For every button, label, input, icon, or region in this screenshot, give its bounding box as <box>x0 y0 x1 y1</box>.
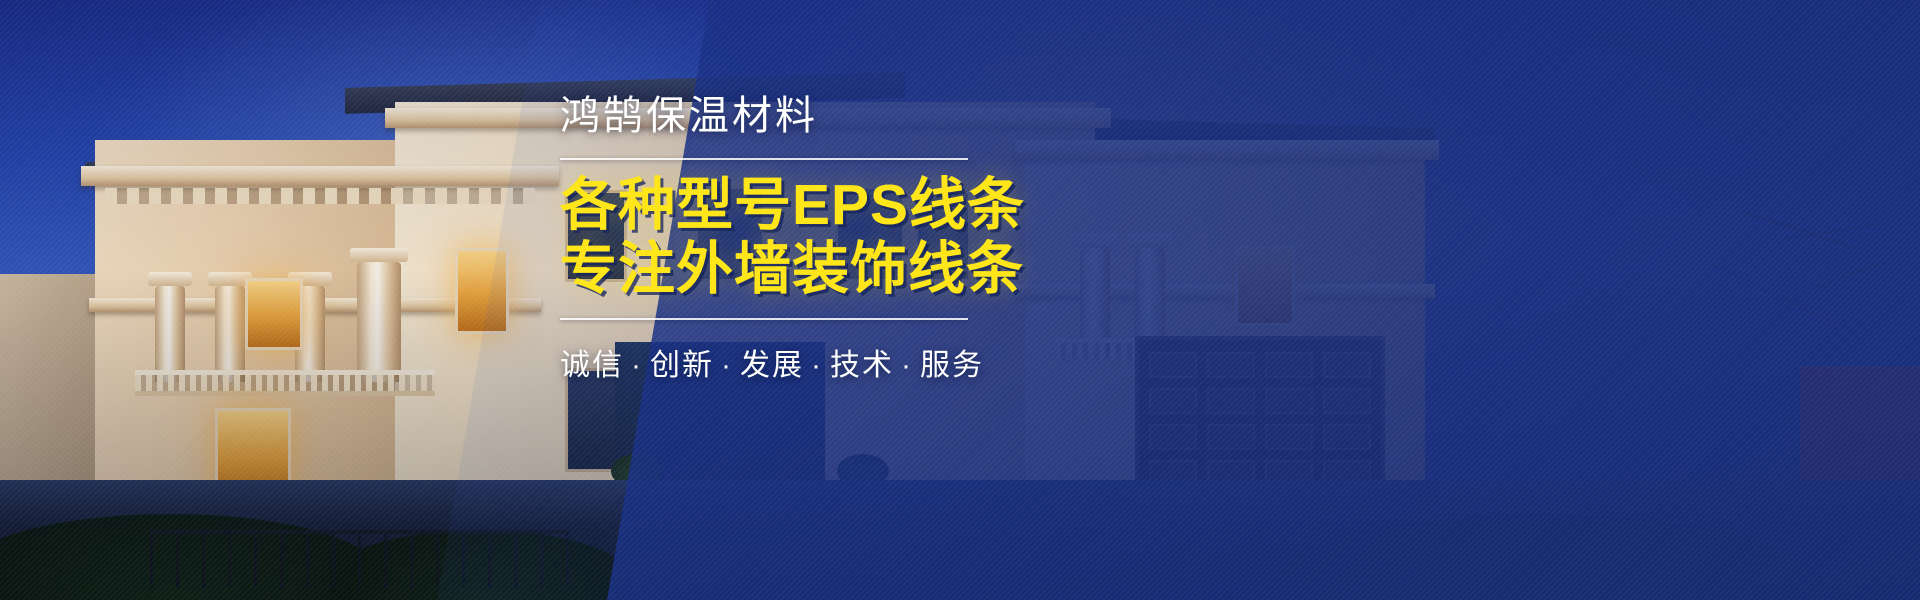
slogan-separator-0: · <box>624 349 650 382</box>
banner-copy: 鸿鹄保温材料 各种型号EPS线条 专注外墙装饰线条 诚信·创新·发展·技术·服务 <box>560 92 1030 384</box>
slogan-separator-3: · <box>894 349 920 382</box>
slogan-item-1: 创新 <box>650 349 714 382</box>
headline-line-1: 各种型号EPS线条 <box>560 174 1030 238</box>
slogan-item-2: 发展 <box>740 349 804 382</box>
promo-banner: 鸿鹄保温材料 各种型号EPS线条 专注外墙装饰线条 诚信·创新·发展·技术·服务 <box>0 0 1920 600</box>
divider-top <box>560 158 968 160</box>
divider-bottom <box>560 318 968 320</box>
slogan-item-4: 服务 <box>920 349 984 382</box>
slogan-item-0: 诚信 <box>560 349 624 382</box>
headline-line-2: 专注外墙装饰线条 <box>560 238 1030 302</box>
slogan-item-3: 技术 <box>830 349 894 382</box>
slogan-separator-2: · <box>804 349 830 382</box>
slogan-separator-1: · <box>714 349 740 382</box>
brand-name: 鸿鹄保温材料 <box>560 92 1030 140</box>
slogan: 诚信·创新·发展·技术·服务 <box>560 340 1030 384</box>
